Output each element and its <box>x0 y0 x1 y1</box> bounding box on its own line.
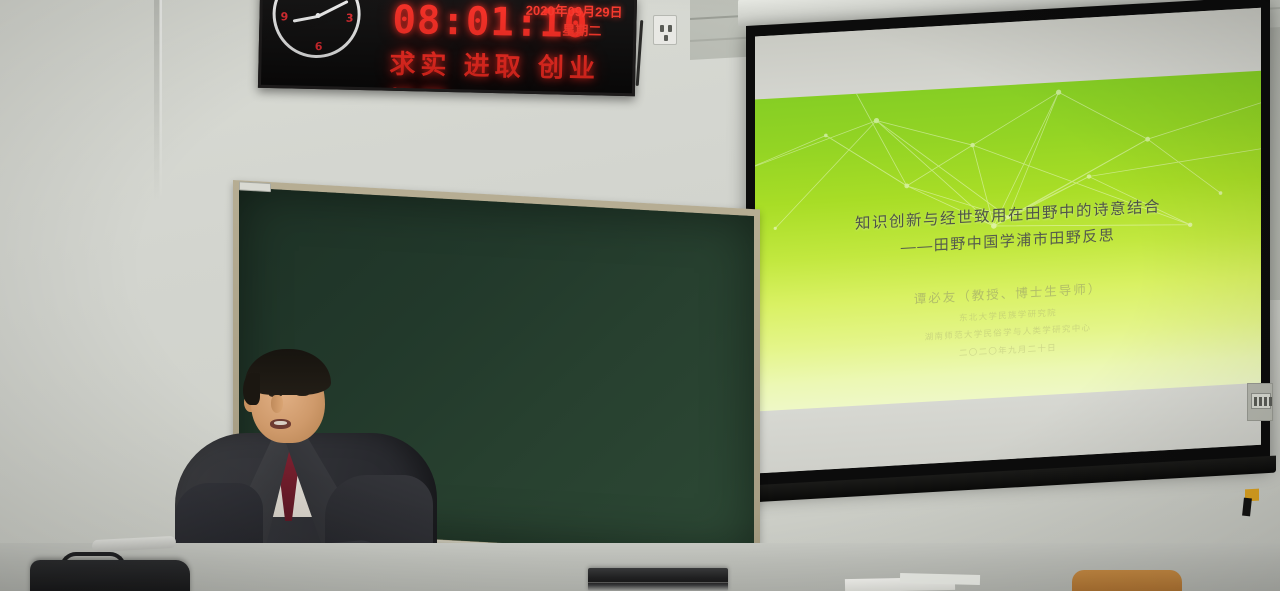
presenter-nose <box>271 395 283 413</box>
led-weekday: 星期二 <box>562 20 601 40</box>
clock-hour-hand <box>293 15 318 23</box>
clock-minute-hand <box>317 0 349 18</box>
projection-screen[interactable]: 知识创新与经世致用在田野中的诗意结合 ——田野中国学浦市田野反思 谭必友（教授、… <box>746 0 1270 494</box>
classroom-scene: 12 3 6 9 08:01:10 2020年09月29日 星期二 求实 进取 … <box>0 0 1280 591</box>
led-clock-board: 12 3 6 9 08:01:10 2020年09月29日 星期二 求实 进取 … <box>258 0 637 96</box>
wall-seam-shadow <box>154 0 159 205</box>
device-panel-line <box>588 582 728 583</box>
analog-clock-icon: 12 3 6 9 <box>272 0 362 59</box>
clock-numeral-9: 9 <box>280 10 288 23</box>
led-motto: 求实 进取 创业 报国 <box>388 44 633 97</box>
av-amplifier[interactable] <box>588 568 728 591</box>
clock-hub <box>316 13 321 18</box>
screen-surface: 知识创新与经世致用在田野中的诗意结合 ——田野中国学浦市田野反思 谭必友（教授、… <box>755 8 1261 474</box>
black-bag[interactable] <box>30 560 190 591</box>
presenter-teeth <box>274 421 287 425</box>
loose-papers-secondary[interactable] <box>900 573 980 585</box>
presenter-hair-side <box>243 373 260 405</box>
clock-numeral-6: 6 <box>315 40 323 53</box>
clock-numeral-3: 3 <box>346 12 354 25</box>
board-clip <box>239 181 271 192</box>
wall-electrical-box[interactable] <box>1247 383 1273 421</box>
wooden-chair-back[interactable] <box>1072 570 1182 591</box>
led-date: 2020年09月29日 <box>526 0 623 21</box>
wall-seam <box>160 0 162 200</box>
presentation-slide: 知识创新与经世致用在田野中的诗意结合 ——田野中国学浦市田野反思 谭必友（教授、… <box>755 71 1261 412</box>
breaker-panel <box>1251 393 1271 409</box>
wall-power-outlet[interactable] <box>653 15 677 45</box>
